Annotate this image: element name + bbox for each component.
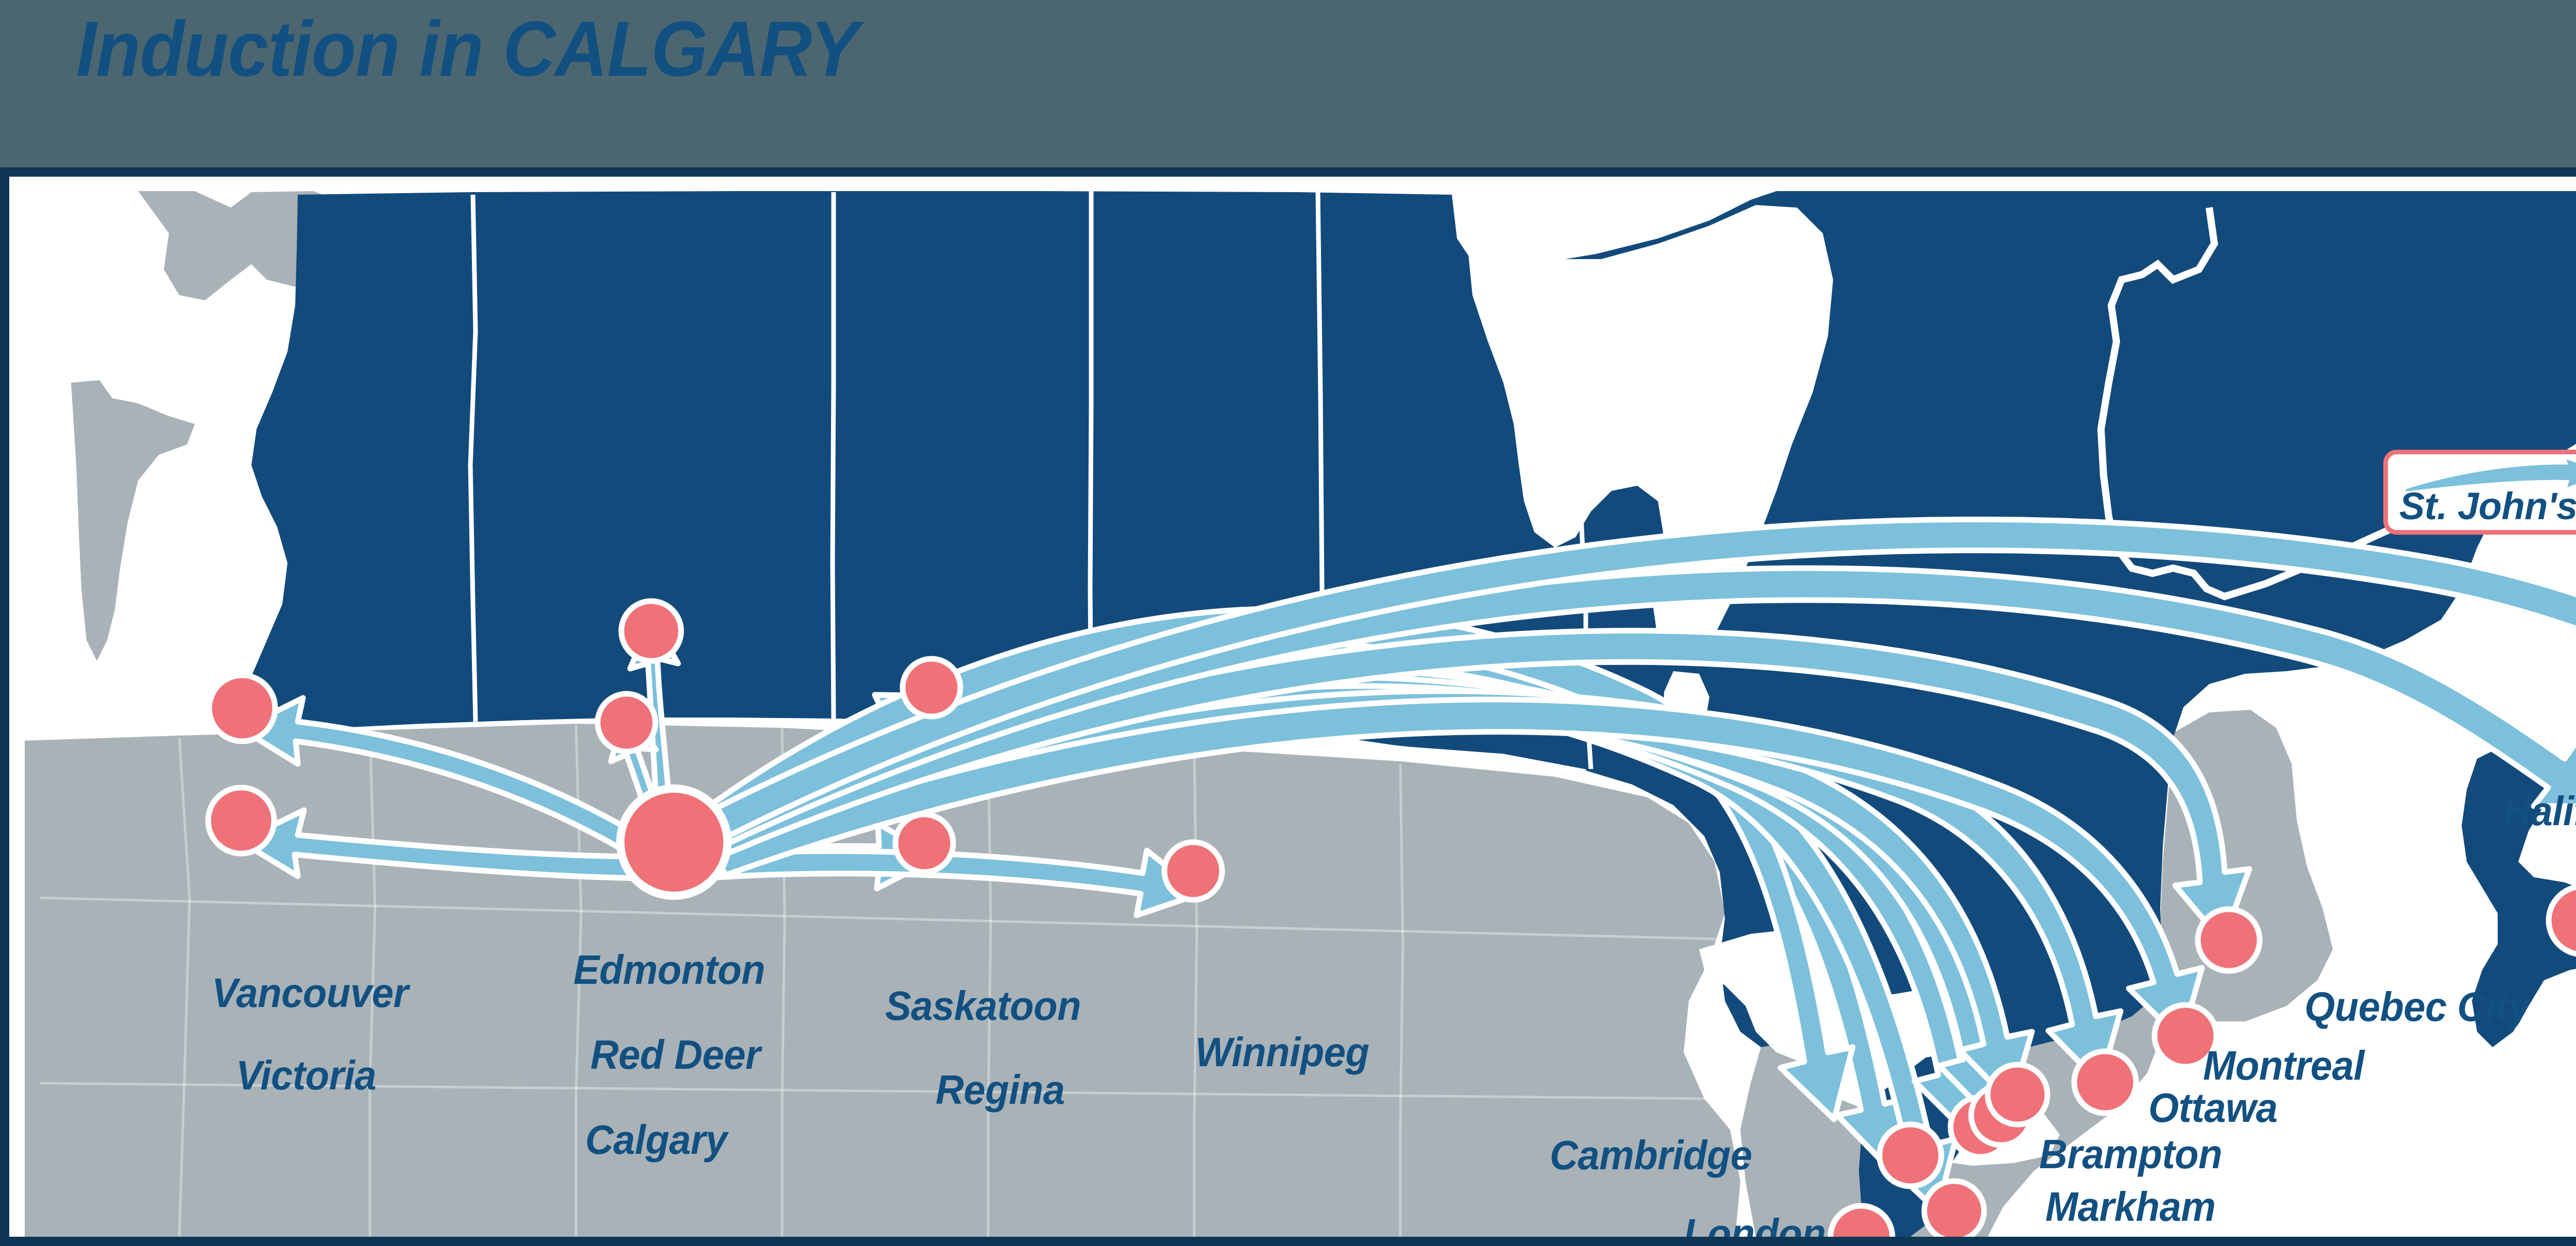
label-winnipeg: Winnipeg: [1195, 1032, 1369, 1073]
marker-cambridge: [1879, 1124, 1941, 1186]
marker-ottawa: [2074, 1051, 2136, 1113]
marker-edmonton: [621, 601, 681, 661]
label-vancouver: Vancouver: [212, 972, 409, 1014]
label-regina: Regina: [936, 1069, 1065, 1111]
marker-saskatoon: [903, 659, 960, 716]
marker-victoria: [208, 788, 274, 854]
label-montreal: Montreal: [2203, 1045, 2364, 1086]
page-title: Induction in CALGARY: [76, 4, 858, 94]
label-london: London: [1684, 1213, 1826, 1237]
marker-winnipeg: [1164, 842, 1222, 900]
marker-regina: [895, 814, 953, 872]
map-frame: Vancouver Victoria Edmonton Red Deer Cal…: [0, 167, 2576, 1246]
label-red-deer: Red Deer: [590, 1034, 760, 1076]
label-cambridge: Cambridge: [1550, 1135, 1752, 1176]
label-calgary: Calgary: [585, 1119, 727, 1160]
label-markham: Markham: [2045, 1186, 2215, 1227]
label-quebec-city: Quebec City: [2304, 986, 2530, 1028]
label-halifax: Halifax: [2503, 791, 2576, 832]
label-saskatoon: Saskatoon: [885, 985, 1081, 1027]
label-victoria: Victoria: [236, 1055, 376, 1096]
hub-marker-calgary: [620, 789, 727, 896]
marker-vancouver: [209, 675, 275, 741]
marker-red-deer: [598, 694, 655, 752]
label-ottawa: Ottawa: [2148, 1087, 2278, 1129]
st-johns-label: St. John's: [2399, 484, 2576, 528]
header-band: Induction in CALGARY: [0, 0, 2576, 167]
infographic-root: Induction in CALGARY: [0, 0, 2576, 1246]
map-canvas: Vancouver Victoria Edmonton Red Deer Cal…: [9, 177, 2576, 1237]
marker-quebec-city: [2198, 909, 2260, 971]
marker-hamilton: [1924, 1181, 1984, 1237]
marker-etobicoke: [1988, 1065, 2047, 1124]
label-brampton: Brampton: [2039, 1134, 2222, 1175]
st-johns-callout[interactable]: St. John's: [2383, 450, 2576, 535]
canada-map-svg: [9, 177, 2576, 1237]
label-edmonton: Edmonton: [573, 949, 765, 991]
